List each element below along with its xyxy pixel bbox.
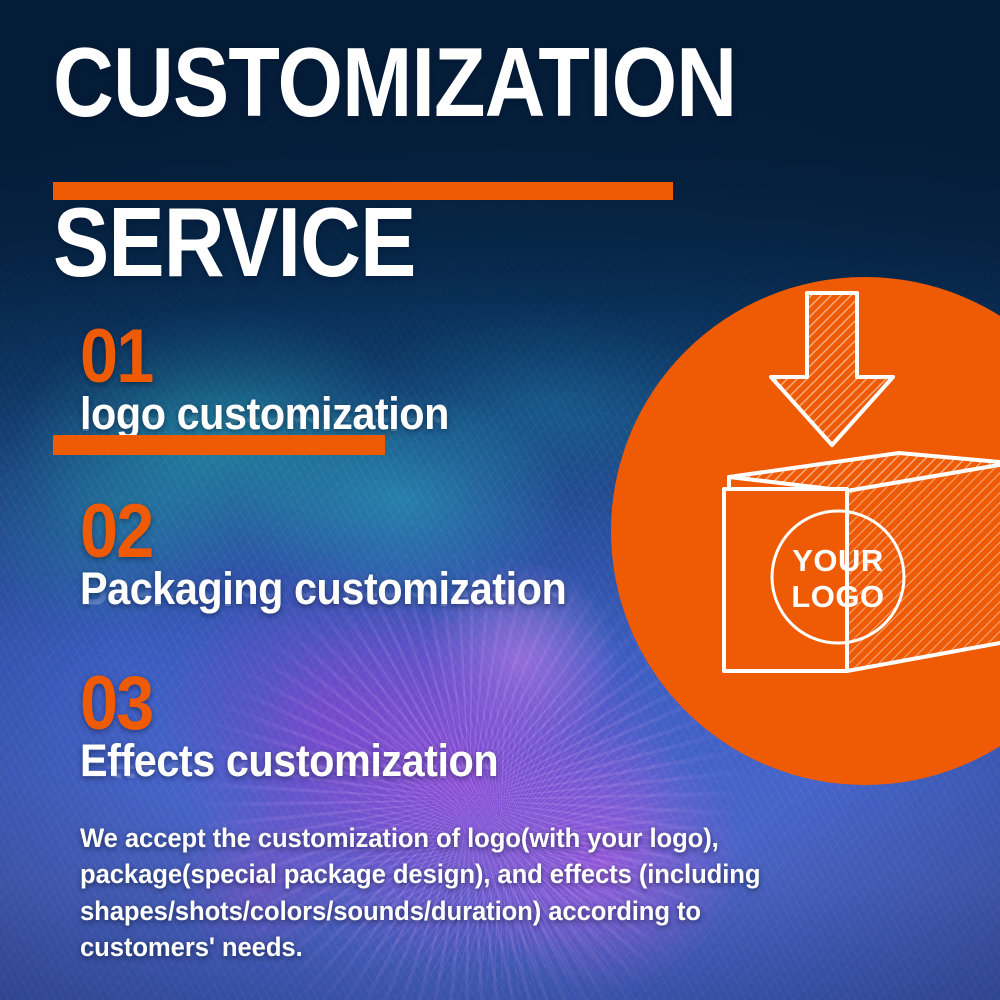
service-label-03: Effects customization (80, 738, 498, 783)
service-item-02: 02 Packaging customization Packaging cus… (80, 500, 609, 611)
orange-circle-badge: YOUR LOGO (611, 277, 1000, 785)
title-underline-bar-2 (53, 435, 385, 455)
title-line1-row: CUSTOMIZATION (53, 42, 848, 122)
custom-logo-box-illustration: YOUR LOGO (611, 277, 1000, 785)
your-logo-line1: YOUR (792, 543, 884, 578)
page-title: CUSTOMIZATION SERVICE (53, 42, 848, 122)
title-line1: CUSTOMIZATION (53, 42, 736, 122)
title-line2: SERVICE (53, 202, 415, 282)
service-number-02: 02 (80, 500, 556, 564)
service-number-01: 01 (80, 325, 441, 389)
service-number-03: 03 (80, 672, 489, 736)
service-label-01: logo customization (80, 391, 449, 436)
your-logo-line2: LOGO (791, 579, 884, 614)
service-label-wrap-01: logo customization logo customization (80, 391, 481, 436)
promo-poster: CUSTOMIZATION SERVICE 01 logo customizat… (0, 0, 1000, 1000)
service-label-wrap-02: Packaging customization Packaging custom… (80, 566, 609, 611)
down-arrow-icon (771, 293, 893, 445)
service-item-03: 03 Effects customization Effects customi… (80, 672, 535, 783)
service-item-01: 01 logo customization logo customization (80, 325, 481, 436)
service-label-wrap-03: Effects customization Effects customizat… (80, 738, 535, 783)
service-label-02: Packaging customization (80, 566, 566, 611)
title-underline-bar-1 (53, 182, 673, 200)
description-paragraph: We accept the customization of logo(with… (80, 820, 821, 966)
